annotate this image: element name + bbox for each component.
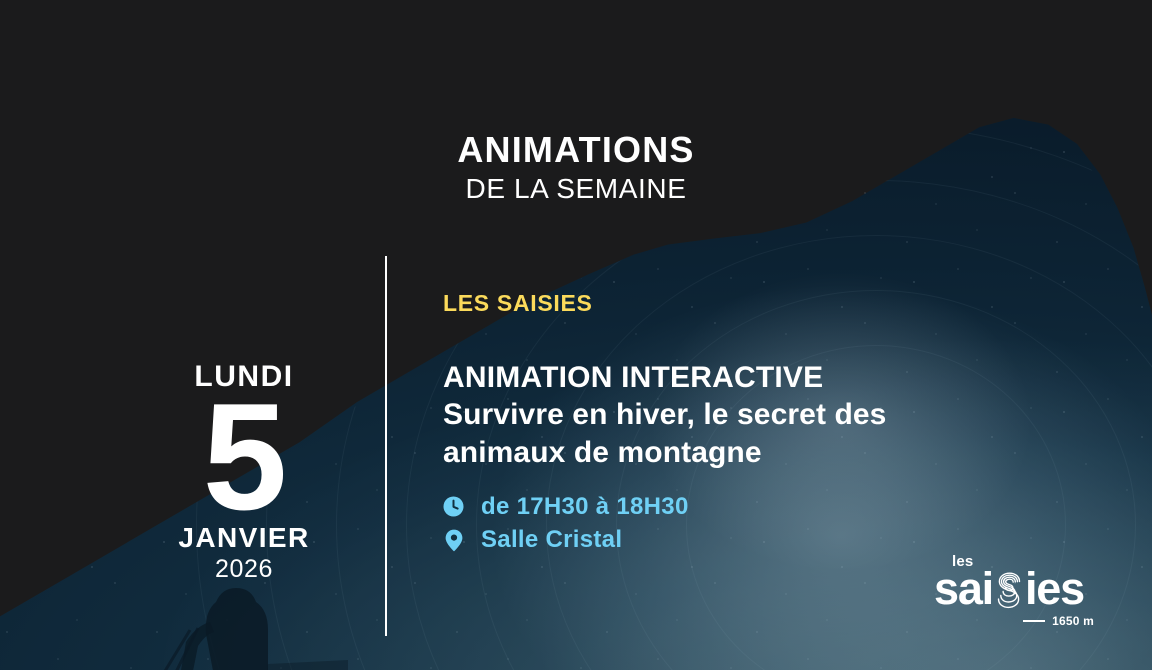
date-year: 2026 [110, 554, 378, 585]
event-title-line1: Survivre en hiver, le secret des [443, 396, 1043, 434]
event-venue: Salle Cristal [481, 527, 622, 553]
event-title-line2: animaux de montagne [443, 434, 1043, 472]
page-title: ANIMATIONS [0, 132, 1152, 169]
spiral-s-icon [992, 571, 1026, 611]
event-venue-row: Salle Cristal [443, 527, 1043, 553]
logo-altitude: 1650 m [1023, 614, 1094, 628]
event-time-row: de 17H30 à 18H30 [443, 494, 1043, 520]
clock-icon [443, 495, 464, 518]
logo-word-start: sai [934, 566, 993, 611]
event-kicker: ANIMATION INTERACTIVE [443, 361, 1043, 395]
les-saisies-logo: les sai ies 1650 m [934, 554, 1094, 628]
poster-canvas: ANIMATIONS DE LA SEMAINE LUNDI 5 JANVIER… [0, 0, 1152, 670]
logo-word-end: ies [1025, 566, 1084, 611]
logo-wordmark: sai ies [934, 566, 1084, 611]
date-day-number: 5 [110, 388, 378, 528]
vertical-divider [385, 256, 387, 636]
map-pin-icon [443, 529, 464, 552]
date-block: LUNDI 5 JANVIER 2026 [110, 362, 378, 585]
event-block: LES SAISIES ANIMATION INTERACTIVE Surviv… [443, 292, 1043, 560]
poster-header: ANIMATIONS DE LA SEMAINE [0, 132, 1152, 206]
event-meta: de 17H30 à 18H30 Salle Cristal [443, 494, 1043, 554]
logo-dash-divider [1023, 620, 1045, 622]
event-location-tag: LES SAISIES [443, 292, 1043, 315]
logo-altitude-label: 1650 m [1052, 614, 1094, 628]
event-time: de 17H30 à 18H30 [481, 494, 689, 520]
page-subtitle: DE LA SEMAINE [0, 171, 1152, 206]
date-month: JANVIER [110, 524, 378, 552]
